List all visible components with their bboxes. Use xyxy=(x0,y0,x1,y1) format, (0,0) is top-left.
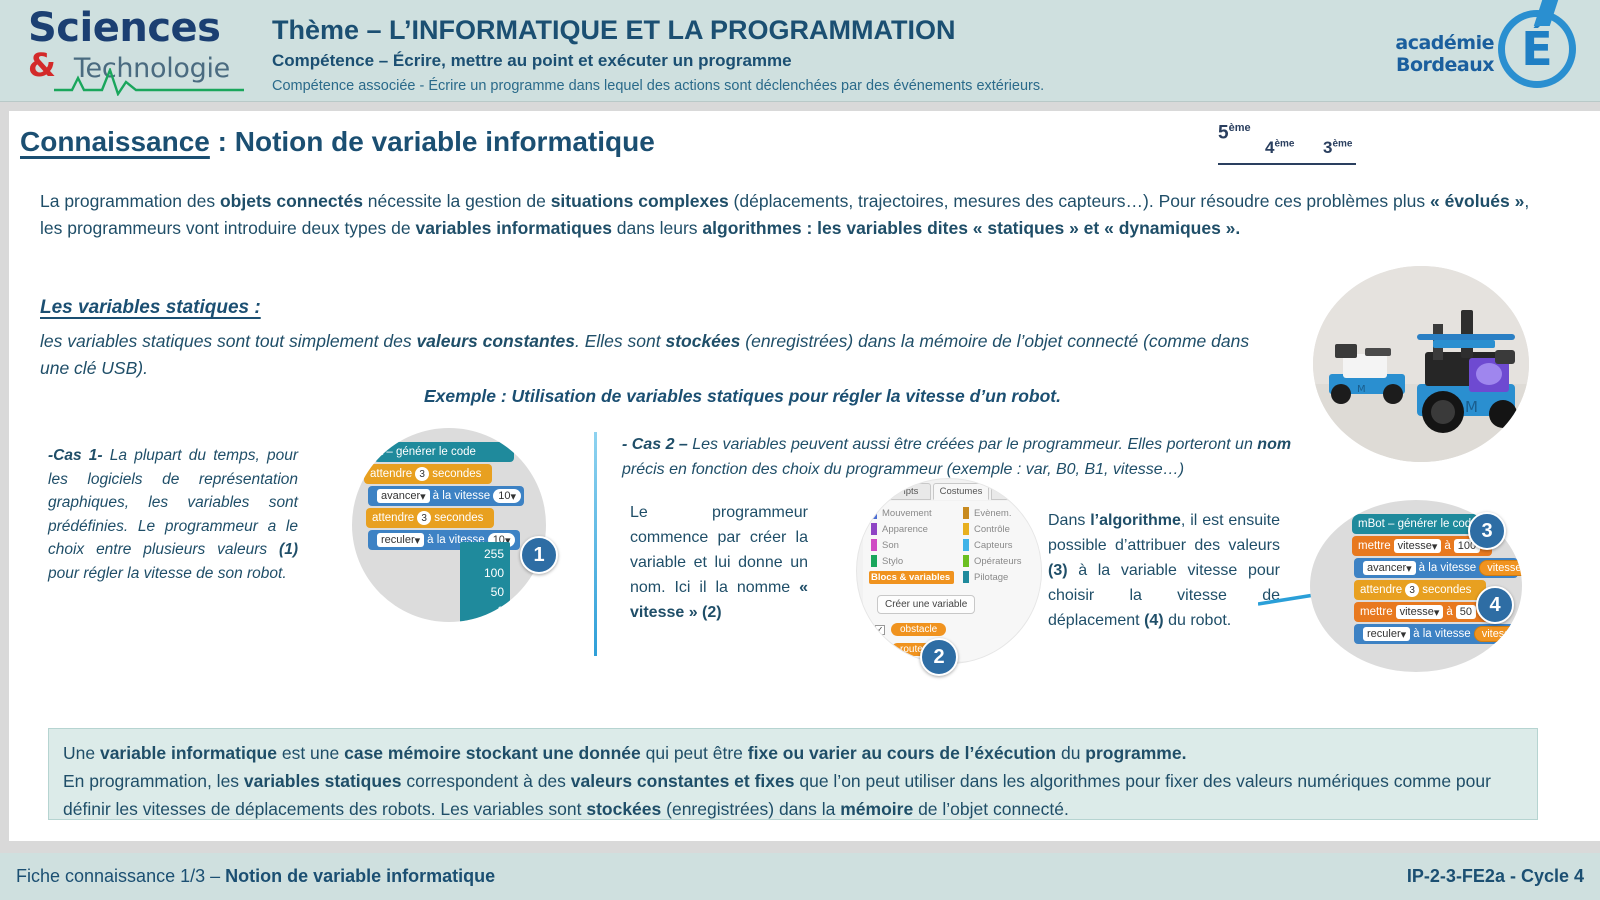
sum2-seg-8: mémoire xyxy=(840,799,913,819)
sum2-seg-3: correspondent à des xyxy=(402,771,571,791)
level-4eme: 4ème xyxy=(1265,138,1294,158)
block-attendre-1: attendre 3 secondes xyxy=(364,464,492,484)
block-attendre-pre-3: attendre xyxy=(1360,584,1402,596)
sum1-seg-7: du xyxy=(1056,743,1085,763)
block-mettre-pre-1: mettre xyxy=(1358,540,1391,552)
cas2-right-column-text: Dans l’algorithme, il est ensuite possib… xyxy=(1048,508,1280,633)
cas1-reference: (1) xyxy=(279,541,298,558)
page-header: Sciences & Technologie Thème – L’INFORMA… xyxy=(0,0,1600,102)
block-avancer-variable-3[interactable]: vitesse xyxy=(1479,560,1522,576)
speed-dropdown-options[interactable]: 255 100 50 0 -50 xyxy=(460,542,510,622)
robot-photo-illustration: M M xyxy=(1313,266,1529,462)
category-mouvement[interactable]: Mouvement xyxy=(871,507,932,519)
dropdown-option-2[interactable]: 50 xyxy=(466,583,504,602)
section-heading-variables-statiques: Les variables statiques : xyxy=(40,297,261,319)
block-reculer-dropdown-3[interactable]: reculer ▾ xyxy=(1363,627,1410,641)
category-stylo[interactable]: Stylo xyxy=(871,555,903,567)
block-reculer-variable-3[interactable]: vitesse xyxy=(1474,626,1522,642)
block-avancer-mid-1: à la vitesse xyxy=(433,490,491,502)
tab-costumes[interactable]: Costumes xyxy=(933,483,989,500)
scratch-tab-bar: ipts Costumes S xyxy=(857,483,1042,501)
sum2-seg-7: (enregistrées) dans la xyxy=(661,799,840,819)
sum1-seg-6: fixe ou varier au cours de l’éxécution xyxy=(748,743,1056,763)
sum1-seg-4: case mémoire stockant une donnée xyxy=(344,743,641,763)
footer-left-seg-1: Fiche connaissance 1/3 – xyxy=(16,866,225,886)
sum1-seg-3: est une xyxy=(277,743,344,763)
block-reculer-dropdown-1[interactable]: reculer ▾ xyxy=(377,533,424,547)
block-reculer-vitesse: reculer ▾ à la vitesse vitesse xyxy=(1354,624,1516,644)
left-gray-rail xyxy=(0,111,9,841)
competence-associee-line: Compétence associée - Écrire un programm… xyxy=(272,76,1352,96)
header-divider-strip xyxy=(0,102,1600,111)
svg-text:M: M xyxy=(1465,398,1478,416)
cas2-label: - Cas 2 – xyxy=(622,436,688,453)
category-evenements[interactable]: Evènem. xyxy=(963,507,1012,519)
vertical-divider xyxy=(594,432,597,656)
bordeaux-label: Bordeaux xyxy=(1395,54,1494,76)
block-avancer-1: avancer ▾ à la vitesse 10▾ xyxy=(368,486,524,506)
intro-seg-3: nécessite la gestion de xyxy=(363,191,551,211)
intro-seg-8: variables informatiques xyxy=(415,218,611,238)
academie-label: académie xyxy=(1395,32,1494,54)
scratch-block-palette: Mouvement Apparence Son Stylo Blocs & va… xyxy=(863,501,1041,661)
stat-seg-3: . Elles sont xyxy=(575,331,665,351)
header-text-group: Thème – L’INFORMATIQUE ET LA PROGRAMMATI… xyxy=(272,14,1352,96)
footer-left-seg-2: Notion de variable informatique xyxy=(225,866,495,886)
cas1-paragraph: -Cas 1- La plupart du temps, pour les lo… xyxy=(48,444,298,585)
page-footer: Fiche connaissance 1/3 – Notion de varia… xyxy=(0,853,1600,900)
sciences-technologie-logo: Sciences & Technologie xyxy=(28,6,248,96)
cas1-seg-2: pour régler la vitesse de son robot. xyxy=(48,565,287,582)
category-blocs-variables[interactable]: Blocs & variables xyxy=(869,571,954,584)
block-attendre-value-3[interactable]: 3 xyxy=(1405,583,1419,597)
block-avancer-mid-3: à la vitesse xyxy=(1419,562,1477,574)
category-son[interactable]: Son xyxy=(871,539,899,551)
dropdown-option-0[interactable]: 255 xyxy=(466,545,504,564)
callout-badge-4: 4 xyxy=(1476,586,1514,624)
exemple-line: Exemple : Utilisation de variables stati… xyxy=(424,386,1324,407)
block-attendre-3: attendre 3 secondes xyxy=(1354,580,1486,600)
variable-pill-obstacle[interactable]: obstacle xyxy=(891,623,946,636)
cas2-right-seg-1: Dans xyxy=(1048,512,1090,529)
tab-sons[interactable]: S xyxy=(991,483,1031,500)
create-variable-button[interactable]: Créer une variable xyxy=(877,595,975,614)
block-attendre-2: attendre 3 secondes xyxy=(366,508,494,528)
cas2-right-seg-6: (4) xyxy=(1144,612,1164,629)
block-attendre-value-1[interactable]: 3 xyxy=(415,467,429,481)
block-attendre-post-2: secondes xyxy=(434,512,483,524)
cas2-left-seg-3: (2) xyxy=(698,604,722,621)
summary-box: Une variable informatique est une case m… xyxy=(48,728,1538,820)
category-controle[interactable]: Contrôle xyxy=(963,523,1010,535)
variable-row-obstacle[interactable]: ✓ obstacle xyxy=(875,623,946,636)
level-indicators: 5ème 4ème 3ème xyxy=(1218,120,1356,164)
page-title-keyword: Connaissance xyxy=(20,126,210,157)
cas2-right-seg-4: (3) xyxy=(1048,562,1068,579)
block-hat-generer-code-1: t – générer le code xyxy=(374,442,514,462)
block-hat-label-1: t – générer le code xyxy=(380,446,476,458)
sum1-seg-2: variable informatique xyxy=(100,743,277,763)
intro-seg-9: dans leurs xyxy=(612,218,702,238)
cas2-seg-3: précis en fonction des choix du programm… xyxy=(622,461,1184,478)
tab-scripts[interactable]: ipts xyxy=(891,483,931,500)
block-avancer-dropdown-3[interactable]: avancer ▾ xyxy=(1363,561,1416,575)
block-mettre-mid-2: à xyxy=(1446,606,1452,618)
callout-badge-3: 3 xyxy=(1468,512,1506,550)
footer-left-text: Fiche connaissance 1/3 – Notion de varia… xyxy=(16,866,495,887)
cas2-right-seg-2: l’algorithme xyxy=(1090,512,1181,529)
sum2-seg-9: de l’objet connecté. xyxy=(913,799,1069,819)
block-avancer-dropdown-1[interactable]: avancer ▾ xyxy=(377,489,430,503)
cas2-seg-2: nom xyxy=(1257,436,1291,453)
stat-seg-2: valeurs constantes xyxy=(416,331,575,351)
academie-text: académie Bordeaux xyxy=(1395,32,1494,76)
sum2-seg-2: variables statiques xyxy=(244,771,402,791)
dropdown-option-3[interactable]: 0 xyxy=(466,602,504,621)
block-mettre-value-2[interactable]: 50 xyxy=(1456,605,1476,619)
block-attendre-pre-2: attendre xyxy=(372,512,414,524)
logo-sciences-text: Sciences xyxy=(28,6,248,50)
dropdown-option-4[interactable]: -50 xyxy=(466,621,504,622)
summary-line-2: En programmation, les variables statique… xyxy=(63,767,1523,823)
theme-title: Thème – L’INFORMATIQUE ET LA PROGRAMMATI… xyxy=(272,14,1352,46)
block-attendre-pre-1: attendre xyxy=(370,468,412,480)
intro-seg-1: La programmation des xyxy=(40,191,220,211)
sum2-seg-4: valeurs constantes et fixes xyxy=(571,771,795,791)
footer-reference-code: IP-2-3-FE2a - Cycle 4 xyxy=(1407,866,1584,887)
page-title-rest: : Notion de variable informatique xyxy=(218,126,655,157)
cas2-right-seg-7: du robot. xyxy=(1164,612,1232,629)
intro-seg-4: situations complexes xyxy=(551,191,729,211)
sum1-seg-8: programme. xyxy=(1085,743,1186,763)
footer-divider-strip xyxy=(0,841,1600,853)
callout-badge-1: 1 xyxy=(520,536,558,574)
intro-seg-10: algorithmes : les variables dites « stat… xyxy=(702,218,1240,238)
level-5eme: 5ème xyxy=(1218,122,1251,144)
block-mettre-mid-1: à xyxy=(1444,540,1450,552)
category-capteurs[interactable]: Capteurs xyxy=(963,539,1013,551)
variable-checkbox-obstacle[interactable]: ✓ xyxy=(875,625,885,635)
cas2-seg-1: Les variables peuvent aussi être créées … xyxy=(688,436,1257,453)
competence-line: Compétence – Écrire, mettre au point et … xyxy=(272,49,1352,73)
block-avancer-speed-1[interactable]: 10▾ xyxy=(493,489,521,503)
sum2-seg-6: stockées xyxy=(586,799,661,819)
block-attendre-post-3: secondes xyxy=(1422,584,1471,596)
block-mettre-pre-2: mettre xyxy=(1360,606,1393,618)
intro-paragraph: La programmation des objets connectés né… xyxy=(40,188,1530,242)
cas1-code-screenshot: t – générer le code attendre 3 secondes … xyxy=(352,428,546,622)
cas2-paragraph: - Cas 2 – Les variables peuvent aussi êt… xyxy=(622,432,1328,482)
intro-seg-6: « évolués » xyxy=(1430,191,1524,211)
dropdown-option-1[interactable]: 100 xyxy=(466,564,504,583)
section-body-variables-statiques: les variables statiques sont tout simple… xyxy=(40,328,1250,382)
cas2-left-seg-1: Le programmeur commence par créer la var… xyxy=(630,504,808,596)
cas2-left-column-text: Le programmeur commence par créer la var… xyxy=(630,500,808,625)
academie-bordeaux-logo: académie Bordeaux É xyxy=(1382,8,1582,94)
block-mettre-vitesse-50: mettre vitesse ▾ à 50 xyxy=(1354,602,1490,622)
svg-text:M: M xyxy=(1357,384,1366,395)
sum1-seg-5: qui peut être xyxy=(641,743,748,763)
intro-seg-5: (déplacements, trajectoires, mesures des… xyxy=(729,191,1430,211)
callout-badge-2: 2 xyxy=(920,638,958,676)
block-attendre-value-2[interactable]: 3 xyxy=(417,511,431,525)
cas1-label: -Cas 1- xyxy=(48,447,103,464)
block-hat-label-3: mBot – générer le code xyxy=(1358,518,1478,530)
scratch-palette-screenshot: ipts Costumes S Mouvement Apparence Son … xyxy=(856,478,1042,664)
stat-seg-4: stockées xyxy=(665,331,740,351)
intro-seg-2: objets connectés xyxy=(220,191,363,211)
block-mettre-var-dropdown-2[interactable]: vitesse ▾ xyxy=(1396,605,1444,619)
logo-ampersand: & xyxy=(28,46,56,84)
block-avancer-vitesse: avancer ▾ à la vitesse vitesse xyxy=(1354,558,1518,578)
variable-checkbox-route[interactable]: ✓ xyxy=(875,645,885,655)
category-operateurs[interactable]: Opérateurs xyxy=(963,555,1022,567)
level-underline xyxy=(1218,163,1356,165)
document-page: Sciences & Technologie Thème – L’INFORMA… xyxy=(0,0,1600,900)
category-pilotage[interactable]: Pilotage xyxy=(963,571,1008,583)
logo-sciences-label: Sciences xyxy=(28,5,220,51)
level-3eme: 3ème xyxy=(1323,138,1352,158)
stat-seg-1: les variables statiques sont tout simple… xyxy=(40,331,416,351)
block-reculer-mid-3: à la vitesse xyxy=(1413,628,1471,640)
page-title: Connaissance : Notion de variable inform… xyxy=(20,126,655,158)
sum2-seg-1: En programmation, les xyxy=(63,771,244,791)
sum1-seg-1: Une xyxy=(63,743,100,763)
academie-letter: É xyxy=(1521,26,1552,72)
block-mettre-var-dropdown-1[interactable]: vitesse ▾ xyxy=(1394,539,1442,553)
block-attendre-post-1: secondes xyxy=(432,468,481,480)
summary-line-1: Une variable informatique est une case m… xyxy=(63,739,1523,767)
category-apparence[interactable]: Apparence xyxy=(871,523,928,535)
mbot-robots-photo: M M xyxy=(1313,266,1529,462)
ecg-wave-icon xyxy=(54,68,244,96)
